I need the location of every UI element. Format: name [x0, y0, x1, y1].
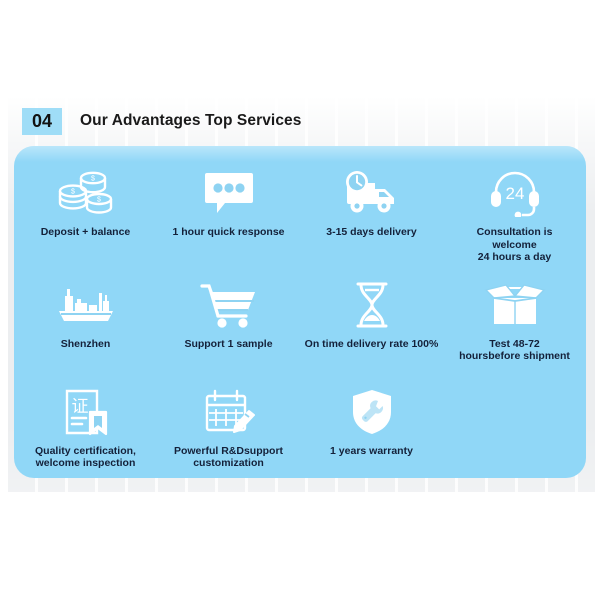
- advantage-item-on-time-rate[interactable]: On time delivery rate 100%: [300, 264, 443, 371]
- section-header: 04 Our Advantages Top Services: [0, 104, 600, 138]
- advantage-label: 3-15 days delivery: [326, 226, 416, 239]
- chat-bubble-icon: [193, 168, 265, 218]
- advantage-item-quality-certification[interactable]: 证 Quality certification, welcome inspect…: [14, 371, 157, 478]
- advantage-item-empty: [443, 371, 586, 478]
- delivery-truck-clock-icon: [336, 168, 408, 218]
- advantage-item-sample[interactable]: Support 1 sample: [157, 264, 300, 371]
- shield-wrench-icon: [336, 387, 408, 437]
- svg-text:$: $: [97, 196, 101, 203]
- certificate-icon: 证: [50, 387, 122, 437]
- calendar-pencil-icon: [193, 387, 265, 437]
- svg-text:$: $: [71, 189, 75, 196]
- advantage-label: Shenzhen: [61, 338, 111, 351]
- advantage-label: Consultation is welcome 24 hours a day: [477, 226, 553, 264]
- advantage-label: On time delivery rate 100%: [305, 338, 439, 351]
- slide-canvas: 04 Our Advantages Top Services $ $: [0, 0, 600, 600]
- advantage-label: 1 years warranty: [330, 445, 413, 458]
- section-number-badge: 04: [22, 108, 62, 135]
- advantage-item-test-hours[interactable]: Test 48-72 hoursbefore shipment: [443, 264, 586, 371]
- advantage-item-rd-support[interactable]: Powerful R&Dsupport customization: [157, 371, 300, 478]
- shopping-cart-icon: [193, 280, 265, 330]
- certificate-icon-text: 证: [71, 397, 88, 416]
- advantage-label: Powerful R&Dsupport customization: [174, 445, 283, 470]
- open-box-icon: [479, 280, 551, 330]
- advantage-item-delivery-days[interactable]: 3-15 days delivery: [300, 152, 443, 264]
- advantage-label: Support 1 sample: [184, 338, 272, 351]
- empty-icon: [479, 387, 551, 437]
- advantage-label: Quality certification, welcome inspectio…: [35, 445, 136, 470]
- page-title: Our Advantages Top Services: [80, 112, 302, 130]
- headset-24-icon: 24: [479, 168, 551, 218]
- advantage-item-consultation[interactable]: 24 Consultation is welcome 24 hours a da…: [443, 152, 586, 264]
- advantage-label: 1 hour quick response: [172, 226, 284, 239]
- advantages-panel: $ $ $ Deposit + balance: [14, 146, 586, 478]
- cargo-ship-icon: [50, 280, 122, 330]
- headset-icon-text: 24: [505, 184, 524, 203]
- coins-stack-icon: $ $ $: [50, 168, 122, 218]
- advantage-item-deposit-balance[interactable]: $ $ $ Deposit + balance: [14, 152, 157, 264]
- advantage-item-shenzhen[interactable]: Shenzhen: [14, 264, 157, 371]
- advantage-item-quick-response[interactable]: 1 hour quick response: [157, 152, 300, 264]
- advantage-label: Deposit + balance: [41, 226, 131, 239]
- svg-text:$: $: [91, 176, 95, 183]
- advantage-item-warranty[interactable]: 1 years warranty: [300, 371, 443, 478]
- hourglass-icon: [336, 280, 408, 330]
- advantage-label: Test 48-72 hoursbefore shipment: [459, 338, 570, 363]
- advantages-grid: $ $ $ Deposit + balance: [14, 146, 586, 478]
